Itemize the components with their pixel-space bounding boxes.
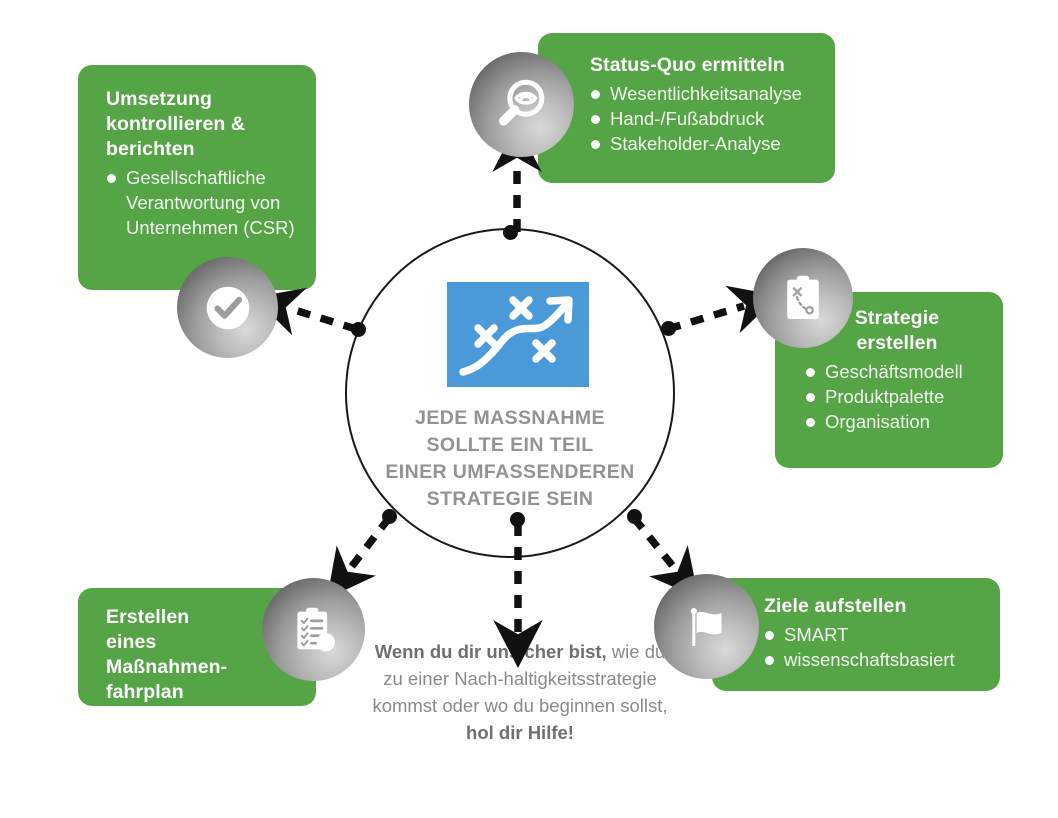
footnote-bold-2: bist, xyxy=(569,641,607,662)
footnote-bold-1: Wenn du dir unsicher xyxy=(375,641,564,662)
card-umsetzung-kontrollieren[interactable]: Umsetzung kontrollieren & berichten Gese… xyxy=(78,65,316,290)
card-strategie-list: Geschäftsmodell Produktpalette Organisat… xyxy=(805,359,991,434)
arrow-to-ziele xyxy=(634,518,676,570)
clipboard-checklist-icon[interactable] xyxy=(262,578,365,681)
node-left xyxy=(351,322,366,337)
list-item: SMART xyxy=(764,622,988,647)
node-bottom-left xyxy=(382,509,397,524)
check-circle-glyph xyxy=(197,277,259,339)
list-item: Wesentlichkeitsanalyse xyxy=(590,81,821,106)
list-item: Produktpalette xyxy=(805,384,991,409)
card-umsetzung-title-line-2: kontrollieren & xyxy=(106,112,302,137)
card-status-quo[interactable]: Status-Quo ermitteln Wesentlichkeitsanal… xyxy=(538,33,835,183)
card-umsetzung-title-line-1: Umsetzung xyxy=(106,87,302,112)
footnote-text: Wenn du dir unsicher bist, wie du zu ein… xyxy=(372,638,668,746)
check-circle-icon[interactable] xyxy=(177,257,278,358)
card-ziele-title: Ziele aufstellen xyxy=(764,594,988,619)
clipboard-strategy-icon[interactable] xyxy=(753,248,853,348)
list-item: Hand-/Fußabdruck xyxy=(590,106,821,131)
footnote-bold-3: hol dir Hilfe! xyxy=(466,722,574,743)
list-item: Organisation xyxy=(805,409,991,434)
list-item: wissenschaftsbasiert xyxy=(764,647,988,672)
card-umsetzung-title-line-3: berichten xyxy=(106,137,302,162)
clipboard-strategy-glyph xyxy=(775,270,831,326)
center-statement-line-3: EINER UMFASSENDEREN xyxy=(360,459,660,486)
center-statement-line-2: SOLLTE EIN TEIL xyxy=(360,432,660,459)
center-statement: JEDE MASSNAHME SOLLTE EIN TEIL EINER UMF… xyxy=(360,405,660,513)
card-massnahmen-title-line-4: fahrplan xyxy=(106,680,304,705)
flag-glyph xyxy=(678,598,736,656)
flag-icon[interactable] xyxy=(654,574,759,679)
node-right xyxy=(661,321,676,336)
arrow-to-massnahmen xyxy=(349,518,389,570)
node-top xyxy=(503,225,518,240)
infographic-canvas: JEDE MASSNAHME SOLLTE EIN TEIL EINER UMF… xyxy=(0,0,1058,818)
arrow-to-strategie xyxy=(668,306,744,329)
magnifier-eye-icon[interactable] xyxy=(469,52,574,157)
card-ziele-list: SMART wissenschaftsbasiert xyxy=(764,622,988,672)
center-statement-line-4: STRATEGIE SEIN xyxy=(360,486,660,513)
node-bottom-right xyxy=(627,509,642,524)
list-item: Gesellschaftliche Verantwortung von Unte… xyxy=(106,165,302,240)
node-bottom xyxy=(510,512,525,527)
list-item: Geschäftsmodell xyxy=(805,359,991,384)
arrow-to-umsetzung xyxy=(288,308,356,329)
card-umsetzung-list: Gesellschaftliche Verantwortung von Unte… xyxy=(106,165,302,240)
clipboard-checklist-glyph xyxy=(286,602,342,658)
strategy-path-arrow-icon xyxy=(447,282,589,387)
center-statement-line-1: JEDE MASSNAHME xyxy=(360,405,660,432)
card-status-quo-list: Wesentlichkeitsanalyse Hand-/Fußabdruck … xyxy=(590,81,821,156)
list-item: Stakeholder-Analyse xyxy=(590,131,821,156)
card-status-quo-title: Status-Quo ermitteln xyxy=(590,53,821,78)
magnifier-eye-glyph xyxy=(491,74,553,136)
